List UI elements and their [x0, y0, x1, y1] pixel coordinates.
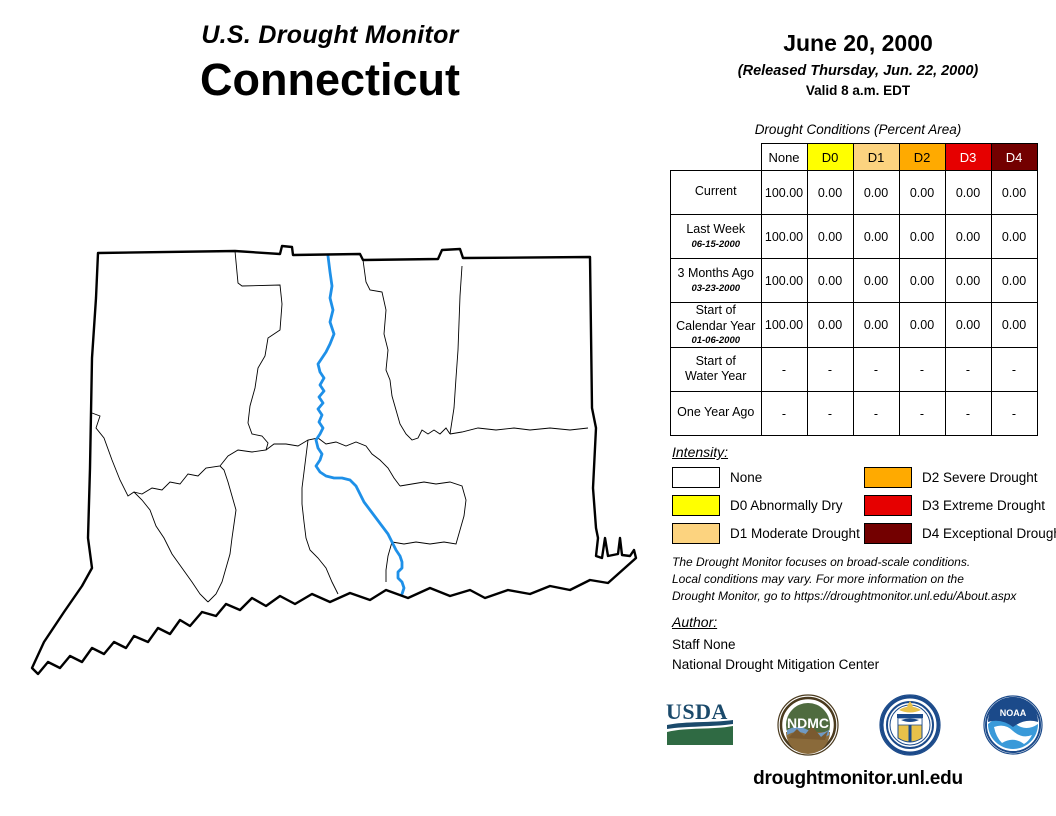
table-row-start-water-year: Start of Water Year - - - - - - — [671, 348, 1038, 392]
legend-grid: None D2 Severe Drought D0 Abnormally Dry… — [672, 467, 1052, 544]
cell-last-week-d1: 0.00 — [853, 215, 899, 259]
row-label-text: Start of Water Year — [685, 354, 746, 384]
svg-text:NOAA: NOAA — [1000, 708, 1027, 718]
legend-item-d4: D4 Exceptional Drought — [864, 523, 1056, 544]
row-label-start-calendar-year: Start of Calendar Year 01-06-2000 — [671, 303, 762, 348]
row-label-date: 01-06-2000 — [671, 335, 761, 347]
cell-3-months-none: 100.00 — [761, 259, 807, 303]
legend-label-d2: D2 Severe Drought — [922, 470, 1038, 485]
usdc-seal-logo[interactable] — [879, 694, 941, 761]
noaa-logo[interactable]: NOAA — [982, 694, 1044, 761]
cell-one-year-d3: - — [945, 392, 991, 436]
cell-3-months-d3: 0.00 — [945, 259, 991, 303]
table-row-3-months-ago: 3 Months Ago 03-23-2000 100.00 0.00 0.00… — [671, 259, 1038, 303]
row-label-date: 03-23-2000 — [671, 283, 761, 295]
column-header-d0: D0 — [807, 144, 853, 171]
map-panel: U.S. Drought Monitor Connecticut — [0, 0, 660, 816]
author-name: Staff None — [672, 635, 879, 655]
legend-item-d0: D0 Abnormally Dry — [672, 495, 864, 516]
drought-conditions-table: None D0 D1 D2 D3 D4 Current 100.00 0.00 … — [670, 143, 1038, 436]
legend-label-d4: D4 Exceptional Drought — [922, 526, 1056, 541]
legend-label-d1: D1 Moderate Drought — [730, 526, 860, 541]
swatch-d4 — [864, 523, 912, 544]
usda-logo-icon: USDA — [664, 699, 736, 751]
page-title: Connecticut — [0, 54, 660, 106]
row-label-last-week: Last Week 06-15-2000 — [671, 215, 762, 259]
cell-last-week-d3: 0.00 — [945, 215, 991, 259]
row-label-text: One Year Ago — [677, 405, 754, 419]
date-block: June 20, 2000 (Released Thursday, Jun. 2… — [660, 30, 1056, 98]
program-title: U.S. Drought Monitor — [0, 22, 660, 50]
cell-calendar-d1: 0.00 — [853, 303, 899, 348]
table-caption: Drought Conditions (Percent Area) — [660, 122, 1056, 137]
legend-item-d3: D3 Extreme Drought — [864, 495, 1056, 516]
row-label-one-year-ago: One Year Ago — [671, 392, 762, 436]
column-header-d2: D2 — [899, 144, 945, 171]
cell-one-year-d4: - — [991, 392, 1037, 436]
cell-one-year-d0: - — [807, 392, 853, 436]
logo-row: USDA NDMC — [664, 692, 1044, 762]
cell-water-d0: - — [807, 348, 853, 392]
row-label-text: Start of Calendar Year — [676, 303, 755, 333]
ndmc-logo[interactable]: NDMC — [777, 694, 839, 761]
disclaimer-line-1: The Drought Monitor focuses on broad-sca… — [672, 554, 1046, 571]
disclaimer-text: The Drought Monitor focuses on broad-sca… — [672, 554, 1046, 605]
cell-water-none: - — [761, 348, 807, 392]
cell-water-d2: - — [899, 348, 945, 392]
row-label-text: 3 Months Ago — [678, 266, 754, 280]
cell-one-year-d2: - — [899, 392, 945, 436]
table-row-one-year-ago: One Year Ago - - - - - - — [671, 392, 1038, 436]
cell-3-months-d2: 0.00 — [899, 259, 945, 303]
legend-label-d3: D3 Extreme Drought — [922, 498, 1045, 513]
valid-time: Valid 8 a.m. EDT — [660, 83, 1056, 98]
row-label-current: Current — [671, 171, 762, 215]
cell-last-week-d0: 0.00 — [807, 215, 853, 259]
cell-3-months-d0: 0.00 — [807, 259, 853, 303]
cell-water-d3: - — [945, 348, 991, 392]
row-label-start-water-year: Start of Water Year — [671, 348, 762, 392]
column-header-none: None — [761, 144, 807, 171]
valid-date: June 20, 2000 — [660, 30, 1056, 58]
connecticut-drought-map[interactable] — [30, 238, 650, 688]
title-block: U.S. Drought Monitor Connecticut — [0, 22, 660, 105]
cell-current-d3: 0.00 — [945, 171, 991, 215]
swatch-d1 — [672, 523, 720, 544]
cell-current-d2: 0.00 — [899, 171, 945, 215]
legend-heading: Intensity: — [672, 444, 1052, 460]
usdc-seal-icon — [879, 694, 941, 756]
cell-calendar-d4: 0.00 — [991, 303, 1037, 348]
row-label-text: Last Week — [686, 222, 745, 236]
ndmc-logo-icon: NDMC — [777, 694, 839, 756]
usda-logo[interactable]: USDA — [664, 699, 736, 756]
legend-label-d0: D0 Abnormally Dry — [730, 498, 843, 513]
cell-last-week-d2: 0.00 — [899, 215, 945, 259]
swatch-none — [672, 467, 720, 488]
row-label-date: 06-15-2000 — [671, 239, 761, 251]
cell-current-d4: 0.00 — [991, 171, 1037, 215]
cell-one-year-none: - — [761, 392, 807, 436]
intensity-legend: Intensity: None D2 Severe Drought D0 Abn… — [672, 444, 1052, 544]
swatch-d2 — [864, 467, 912, 488]
table-row-start-calendar-year: Start of Calendar Year 01-06-2000 100.00… — [671, 303, 1038, 348]
row-label-3-months-ago: 3 Months Ago 03-23-2000 — [671, 259, 762, 303]
table-corner-cell — [671, 144, 762, 171]
swatch-d3 — [864, 495, 912, 516]
cell-3-months-d4: 0.00 — [991, 259, 1037, 303]
site-url[interactable]: droughtmonitor.unl.edu — [660, 768, 1056, 790]
cell-current-none: 100.00 — [761, 171, 807, 215]
column-header-d3: D3 — [945, 144, 991, 171]
cell-calendar-d3: 0.00 — [945, 303, 991, 348]
cell-calendar-d2: 0.00 — [899, 303, 945, 348]
release-date: (Released Thursday, Jun. 22, 2000) — [660, 63, 1056, 79]
author-organization: National Drought Mitigation Center — [672, 655, 879, 675]
column-header-d4: D4 — [991, 144, 1037, 171]
legend-item-d2: D2 Severe Drought — [864, 467, 1056, 488]
author-block: Staff None National Drought Mitigation C… — [672, 635, 879, 676]
table-row-last-week: Last Week 06-15-2000 100.00 0.00 0.00 0.… — [671, 215, 1038, 259]
cell-3-months-d1: 0.00 — [853, 259, 899, 303]
column-header-d1: D1 — [853, 144, 899, 171]
legend-label-none: None — [730, 470, 762, 485]
table-row-current: Current 100.00 0.00 0.00 0.00 0.00 0.00 — [671, 171, 1038, 215]
disclaimer-line-3: Drought Monitor, go to https://droughtmo… — [672, 588, 1046, 605]
cell-calendar-d0: 0.00 — [807, 303, 853, 348]
cell-last-week-none: 100.00 — [761, 215, 807, 259]
legend-item-d1: D1 Moderate Drought — [672, 523, 864, 544]
cell-current-d1: 0.00 — [853, 171, 899, 215]
disclaimer-line-2: Local conditions may vary. For more info… — [672, 571, 1046, 588]
swatch-d0 — [672, 495, 720, 516]
cell-current-d0: 0.00 — [807, 171, 853, 215]
map-svg — [30, 238, 650, 688]
cell-calendar-none: 100.00 — [761, 303, 807, 348]
author-heading: Author: — [672, 614, 717, 630]
svg-text:NDMC: NDMC — [787, 715, 829, 731]
noaa-logo-icon: NOAA — [982, 694, 1044, 756]
cell-one-year-d1: - — [853, 392, 899, 436]
table-header-row: None D0 D1 D2 D3 D4 — [671, 144, 1038, 171]
svg-text:USDA: USDA — [666, 699, 728, 724]
cell-water-d1: - — [853, 348, 899, 392]
cell-last-week-d4: 0.00 — [991, 215, 1037, 259]
row-label-text: Current — [695, 184, 737, 198]
legend-item-none: None — [672, 467, 864, 488]
cell-water-d4: - — [991, 348, 1037, 392]
